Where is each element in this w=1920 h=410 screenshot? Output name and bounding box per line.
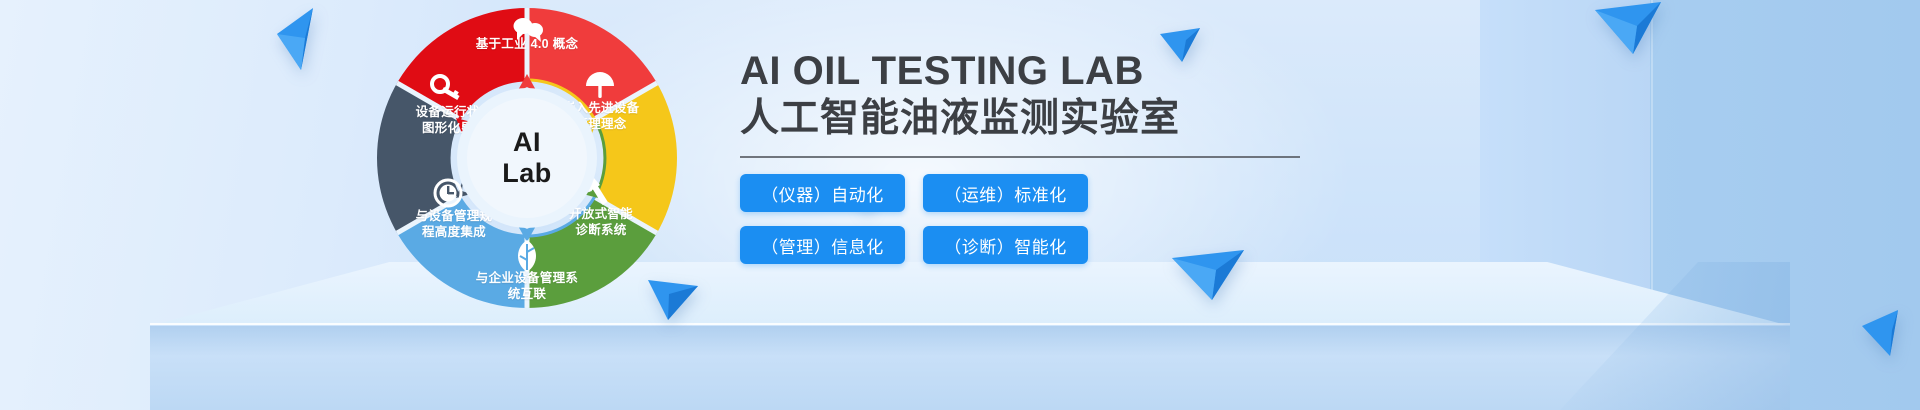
tag-operations-standardization[interactable]: （运维）标准化	[923, 174, 1088, 212]
banner-content: AI OIL TESTING LAB 人工智能油液监测实验室 （仪器）自动化 （…	[740, 48, 1500, 264]
triangle-top-left-icon	[275, 8, 331, 70]
page-title-en: AI OIL TESTING LAB	[740, 48, 1500, 94]
ai-lab-wheel-diagram: 基于工业 4.0 概念 嵌入先进设备 管理理念 开放式智能 诊断系统 与企业设备…	[377, 8, 677, 308]
wheel-hub-line-1: AI	[513, 127, 541, 158]
podium-shadow	[150, 326, 1790, 356]
tag-instrument-automation[interactable]: （仪器）自动化	[740, 174, 905, 212]
wheel-label-industry40: 基于工业 4.0 概念	[472, 36, 582, 52]
wheel-hub: AI Lab	[467, 98, 587, 218]
key-icon	[431, 74, 463, 104]
wheel-label-diagnosis: 开放式智能 诊断系统	[549, 206, 653, 238]
leaf-icon	[513, 240, 541, 272]
title-divider	[740, 156, 1300, 158]
banner-stage: 基于工业 4.0 概念 嵌入先进设备 管理理念 开放式智能 诊断系统 与企业设备…	[0, 0, 1920, 410]
triangle-bottom-right-icon	[1862, 310, 1910, 356]
clock-icon	[433, 178, 463, 208]
wheel-label-interconnect: 与企业设备管理系 统互联	[472, 270, 582, 302]
tag-management-informatization[interactable]: （管理）信息化	[740, 226, 905, 264]
triangle-top-right-large-icon	[1595, 2, 1665, 80]
page-title-cn: 人工智能油液监测实验室	[740, 94, 1500, 144]
wheel-label-integration: 与设备管理规 程高度集成	[402, 208, 506, 240]
hammer-icon	[580, 176, 612, 208]
feature-tag-grid: （仪器）自动化 （运维）标准化 （管理）信息化 （诊断）智能化	[740, 174, 1100, 264]
umbrella-icon	[585, 70, 615, 100]
wheel-hub-line-2: Lab	[502, 158, 552, 189]
tag-diagnosis-intelligence[interactable]: （诊断）智能化	[923, 226, 1088, 264]
